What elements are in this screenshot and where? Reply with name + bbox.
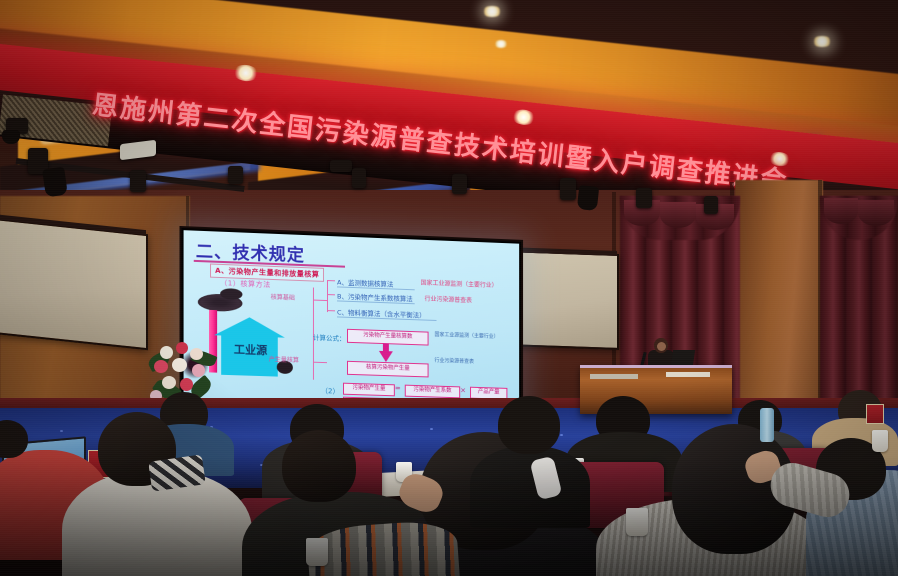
bracket-sub-mid <box>327 294 335 295</box>
audience-person-dark-head-1 <box>282 430 356 502</box>
flower-white-4 <box>162 376 176 389</box>
eq1-term1: 污染物产生量 <box>343 383 395 397</box>
eq1-times: × <box>460 386 466 394</box>
podium-laptop <box>671 350 695 366</box>
bracket-line-bottom <box>313 362 327 363</box>
stage-light-9 <box>704 196 718 214</box>
valance-swag-5 <box>858 200 894 226</box>
flow-box-2: 核算污染物产生量 <box>347 361 429 378</box>
bullet-note-2: 行业污染源普查表 <box>425 294 472 305</box>
bracket-sub-vline <box>327 280 328 312</box>
downlight-2 <box>812 36 832 47</box>
stage-light-head-2 <box>42 167 68 198</box>
stage-light-5 <box>330 160 352 172</box>
thermos-bottle <box>760 408 774 442</box>
bracket-sub-bot <box>327 310 335 311</box>
flower-red-1 <box>176 342 188 354</box>
flow-side-note-1: 国家工业源监测（主要行业） <box>434 332 498 341</box>
podium-paper-1 <box>590 374 638 379</box>
flower-red-2 <box>154 360 168 373</box>
eq1-term2: 污染物产生系数 <box>405 385 460 399</box>
speaker-face <box>657 342 666 351</box>
flow-arrow-down-icon <box>379 351 393 362</box>
paper-cup-foreground-1 <box>306 538 328 566</box>
bracket-label-bottom: 产生量核算 <box>269 354 299 364</box>
downlight-1 <box>482 6 502 17</box>
calc-label: 计算公式： <box>313 332 346 343</box>
flower-white-2 <box>190 348 203 360</box>
stage-light-head-5 <box>352 168 366 188</box>
audience-person-dark-body-2 <box>470 446 590 528</box>
stage-light-4 <box>228 166 243 184</box>
stage-light-6 <box>452 174 467 194</box>
downlight-5 <box>494 40 508 48</box>
equation-brace: （2） <box>321 386 339 397</box>
bullet-note-1: 国家工业源监测（主要行业） <box>421 278 498 290</box>
stage-light-7 <box>560 178 576 200</box>
valance-swag-2 <box>660 202 696 228</box>
side-projection-screen-left <box>0 218 148 350</box>
stage-light-head-7 <box>577 185 599 211</box>
stage-light-8 <box>636 188 652 208</box>
presentation-slide: 二、技术规定 A、污染物产生量和排放量核算 （1）核算方法 工业源 核算基础 产… <box>184 230 520 424</box>
stage-light-3 <box>130 170 146 192</box>
stage-light-head-1 <box>2 130 20 144</box>
flower-pink-1 <box>192 364 205 377</box>
name-card-right <box>866 404 884 424</box>
eq1-equals: = <box>395 384 401 392</box>
bracket-sub-top <box>327 280 335 281</box>
valance-swag-4 <box>824 198 858 224</box>
bracket-line-top <box>313 300 327 302</box>
podium-paper-2 <box>666 372 710 377</box>
bracket-label-top: 核算基础 <box>271 292 295 302</box>
flow-side-note-2: 行业污染源普查表 <box>434 358 473 366</box>
paper-cup-foreground-3 <box>872 430 888 452</box>
audience-person-dark-head-2 <box>498 396 560 454</box>
bullet-underline-a <box>337 286 415 290</box>
conference-photo-scene: 恩施州第二次全国污染源普查技术培训暨入户调查推进会 二、技术规定 A、污染物产生 <box>0 0 898 576</box>
flower-white-1 <box>160 346 173 359</box>
flower-white-3 <box>172 358 187 372</box>
paper-cup-foreground-2 <box>626 508 648 536</box>
flower-red-3 <box>180 378 193 391</box>
